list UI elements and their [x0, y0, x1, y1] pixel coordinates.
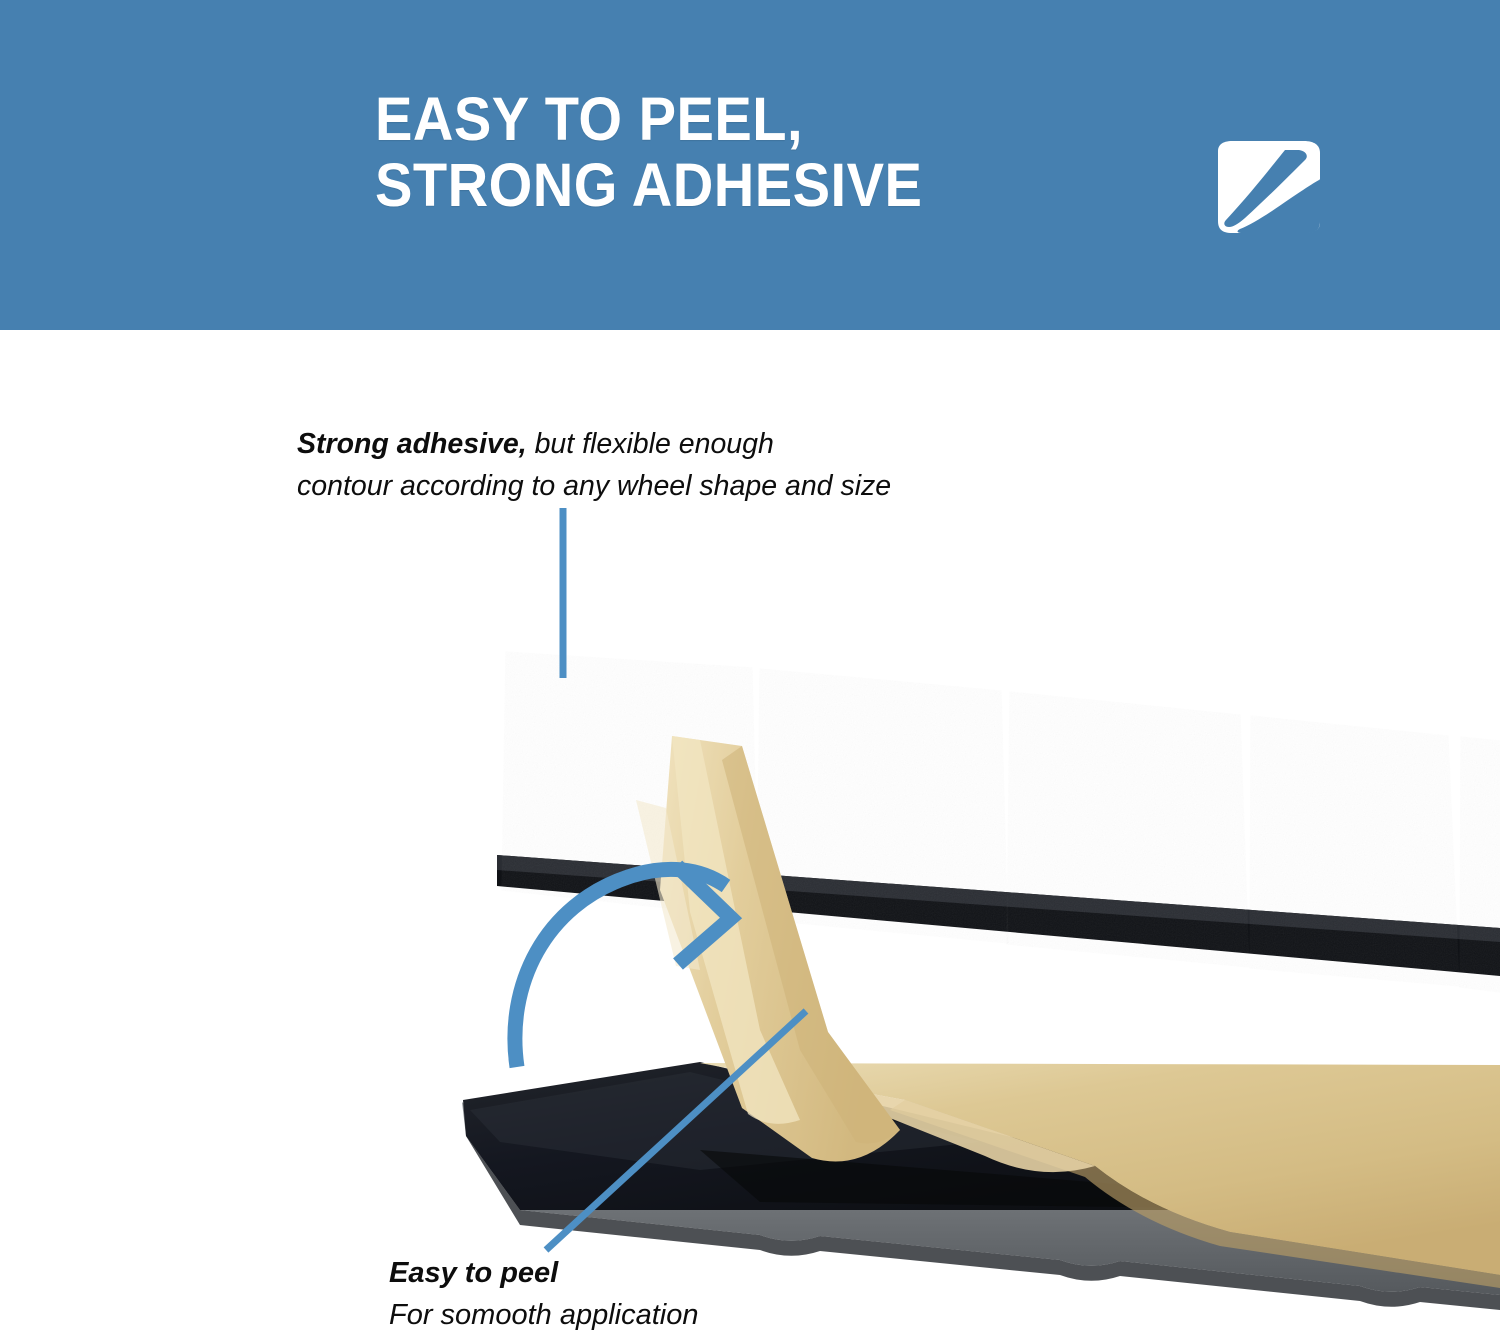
svg-text:Fe: Fe: [1267, 754, 1305, 790]
page-title: EASY TO PEEL, STRONG ADHESIVE: [375, 86, 1102, 218]
svg-text:Fe: Fe: [1027, 726, 1065, 762]
svg-text:Fe: Fe: [779, 696, 817, 732]
callout-top-line-2: contour according to any wheel shape and…: [297, 465, 1117, 507]
weight-block: Fe: [1460, 737, 1500, 992]
weight-block: Fe Fe 1/2oz 1/2oz: [1007, 692, 1249, 967]
brand-swoosh-logo-icon: [1206, 139, 1330, 235]
callout-bottom-text: Easy to peel For somooth application: [389, 1252, 909, 1336]
weight-block: Fe Fe 1/2oz: [1250, 716, 1459, 986]
callout-bottom-sub: For somooth application: [389, 1294, 909, 1336]
svg-text:Fe: Fe: [546, 664, 583, 699]
svg-text:Fe: Fe: [1471, 782, 1500, 818]
callout-top-text: Strong adhesive, but flexible enough con…: [297, 423, 1117, 507]
header-banner: EASY TO PEEL, STRONG ADHESIVE: [0, 0, 1500, 330]
callout-top-bold: Strong adhesive,: [297, 428, 527, 460]
weight-block: Fe Fe 1/2oz 1/2oz: [757, 669, 1008, 943]
callout-bottom-bold: Easy to peel: [389, 1252, 909, 1294]
callout-top-rest: but flexible enough: [527, 428, 774, 460]
callout-top-line-1: Strong adhesive, but flexible enough: [297, 423, 1117, 465]
